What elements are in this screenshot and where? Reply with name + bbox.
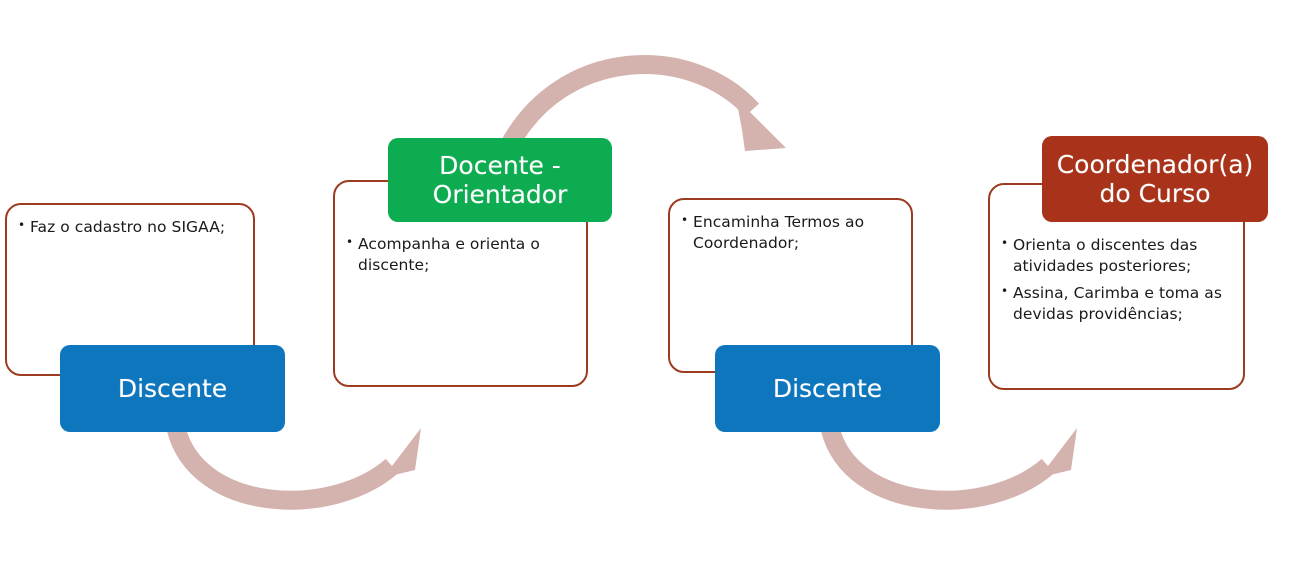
list-item: Acompanha e orienta o discente; <box>345 234 572 275</box>
role-chip-docente-orientador[interactable]: Docente - Orientador <box>388 138 612 222</box>
list-item: Assina, Carimba e toma as devidas provid… <box>1000 283 1231 324</box>
list-item: Faz o cadastro no SIGAA; <box>17 217 239 238</box>
role-chip-discente-2[interactable]: Discente <box>715 345 940 432</box>
step-4-bullet-list: Orienta o discentes das atividades poste… <box>1000 235 1231 324</box>
step-1-bullet-list: Faz o cadastro no SIGAA; <box>17 217 239 238</box>
step-2-bullet-list: Acompanha e orienta o discente; <box>345 234 572 275</box>
step-3-bullet-list: Encaminha Termos ao Coordenador; <box>680 212 897 253</box>
list-item: Orienta o discentes das atividades poste… <box>1000 235 1231 276</box>
flowchart-canvas: Faz o cadastro no SIGAA; Discente Acompa… <box>0 0 1290 569</box>
arrow-step3-to-step4 <box>830 428 1077 500</box>
arrow-step1-to-step2 <box>176 428 421 500</box>
role-chip-discente-1[interactable]: Discente <box>60 345 285 432</box>
role-chip-coordenador-curso[interactable]: Coordenador(a) do Curso <box>1042 136 1268 222</box>
list-item: Encaminha Termos ao Coordenador; <box>680 212 897 253</box>
